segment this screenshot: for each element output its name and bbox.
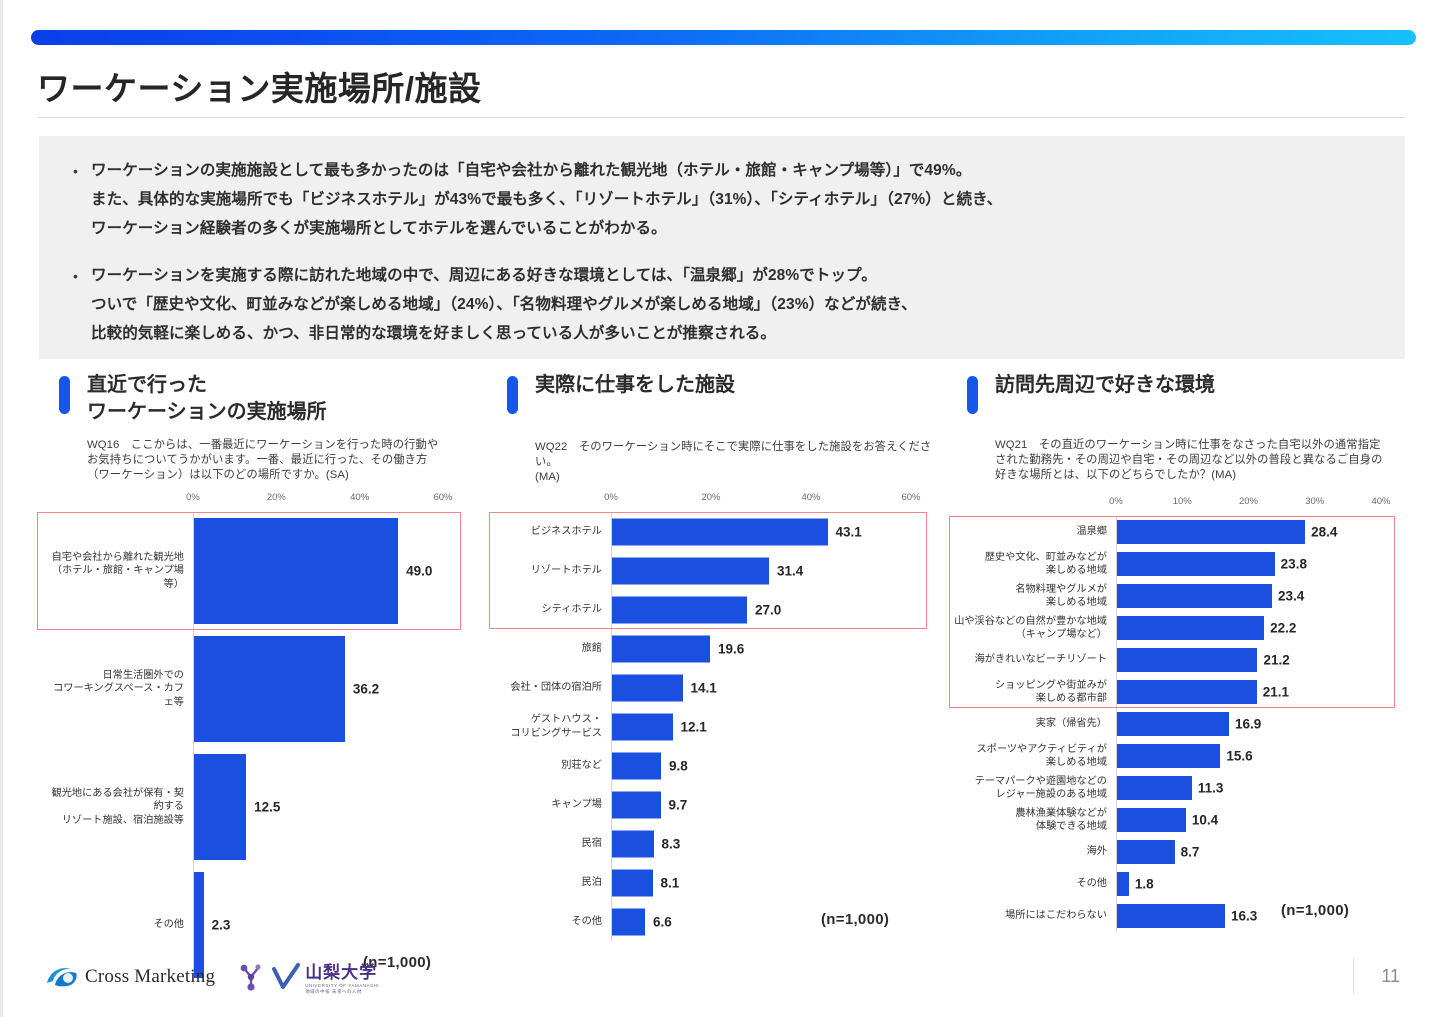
summary-line: 比較的気軽に楽しめる、かつ、非日常的な環境を好ましく思っている人が多いことが推察… — [91, 319, 1377, 348]
bar — [612, 713, 673, 740]
page-number: 11 — [1381, 966, 1400, 987]
chart-rows: 自宅や会社から離れた観光地 （ホテル・旅館・キャンプ場等）49.0日常生活圏外で… — [43, 512, 483, 984]
bar-track: 15.6 — [1116, 740, 1382, 772]
bar-category-label: 山や渓谷などの自然が豊かな地域 （キャンプ場など） — [951, 615, 1116, 642]
axis-tick-label: 40% — [1371, 496, 1390, 507]
bar — [612, 752, 661, 779]
bar — [194, 754, 246, 860]
chart-row: 観光地にある会社が保有・契約する リゾート施設、宿泊施設等12.5 — [43, 748, 483, 866]
bar-track: 8.1 — [611, 863, 912, 902]
axis-tick-label: 60% — [433, 492, 452, 503]
bar-category-label: 農林漁業体験などが 体験できる地域 — [951, 807, 1116, 834]
chart-row: 民宿8.3 — [491, 824, 943, 863]
bar-value-label: 8.3 — [662, 836, 681, 851]
bar-category-label: その他 — [491, 915, 611, 929]
axis-tick-label: 30% — [1305, 496, 1324, 507]
bar-track: 19.6 — [611, 629, 912, 668]
panel-preferred-environment: 訪問先周辺で好きな環境 WQ21 その直近のワーケーション時に仕事をなさった自宅… — [951, 372, 1406, 952]
title-divider — [37, 117, 1405, 118]
bar-value-label: 19.6 — [718, 641, 744, 656]
bar-value-label: 31.4 — [777, 563, 803, 578]
panel-title: 実際に仕事をした施設 — [535, 372, 735, 399]
header-accent-bar — [31, 30, 1416, 45]
bar-track: 28.4 — [1116, 516, 1382, 548]
bar-value-label: 11.3 — [1198, 781, 1224, 796]
bar-track: 21.2 — [1116, 644, 1382, 676]
axis-tick-label: 20% — [267, 492, 286, 503]
chart-row: ビジネスホテル43.1 — [491, 512, 943, 551]
bar-value-label: 9.8 — [669, 758, 688, 773]
bar-value-label: 8.7 — [1181, 845, 1200, 860]
bar-category-label: 観光地にある会社が保有・契約する リゾート施設、宿泊施設等 — [43, 787, 193, 828]
bar-category-label: 日常生活圏外での コワーキングスペース・カフェ等 — [43, 669, 193, 710]
bar-track: 1.8 — [1116, 868, 1382, 900]
panel-facility-worked-at: 実際に仕事をした施設 WQ22 そのワーケーション時にそこで実際に仕事をした施設… — [491, 372, 943, 952]
bar-category-label: キャンプ場 — [491, 798, 611, 812]
bar-track: 12.5 — [193, 748, 444, 866]
bar-category-label: スポーツやアクティビティが 楽しめる地域 — [951, 743, 1116, 770]
bar-track: 9.8 — [611, 746, 912, 785]
bar-category-label: ショッピングや街並みが 楽しめる都市部 — [951, 679, 1116, 706]
bar-track: 16.9 — [1116, 708, 1382, 740]
summary-bullet-lines: ワーケーションを実施する際に訪れた地域の中で、周辺にある好きな環境としては、「温… — [91, 261, 1377, 348]
bar-value-label: 23.8 — [1281, 557, 1307, 572]
chart-row: 別荘など9.8 — [491, 746, 943, 785]
chart-x-axis: 0%20%40%60% — [43, 492, 483, 512]
bar-category-label: ビジネスホテル — [491, 525, 611, 539]
summary-line: また、具体的な実施場所でも「ビジネスホテル」が43%で最も多く、「リゾートホテル… — [91, 185, 1377, 214]
footer-logos: Cross Marketing 山梨大学 UNIVERSITY OF YAMAN… — [45, 958, 379, 995]
bar — [1117, 840, 1175, 864]
bar-category-label: 海がきれいなビーチリゾート — [951, 653, 1116, 667]
bar — [612, 557, 769, 584]
bar-track: 31.4 — [611, 551, 912, 590]
chart-row: 会社・団体の宿泊所14.1 — [491, 668, 943, 707]
bar-chart-environment: 0%10%20%30%40%温泉郷28.4歴史や文化、町並みなどが 楽しめる地域… — [951, 496, 1406, 932]
bar — [1117, 552, 1275, 576]
bar-value-label: 23.4 — [1278, 589, 1304, 604]
panel-header: 訪問先周辺で好きな環境 — [951, 372, 1406, 418]
bar — [612, 869, 653, 896]
axis-tick-label: 0% — [186, 492, 200, 503]
bar-value-label: 15.6 — [1226, 749, 1252, 764]
panel-title: 直近で行った ワーケーションの実施場所 — [87, 372, 327, 426]
bar-track: 11.3 — [1116, 772, 1382, 804]
bar-category-label: 民泊 — [491, 876, 611, 890]
bar-track: 8.7 — [1116, 836, 1382, 868]
panel-question-text: WQ21 その直近のワーケーション時に仕事をなさった自宅以外の通常指定 された勤… — [995, 438, 1383, 483]
bar-value-label: 9.7 — [669, 797, 688, 812]
bar-value-label: 36.2 — [353, 682, 379, 697]
chart-row: 民泊8.1 — [491, 863, 943, 902]
chart-row: 山や渓谷などの自然が豊かな地域 （キャンプ場など）22.2 — [951, 612, 1406, 644]
chart-row: 名物料理やグルメが 楽しめる地域23.4 — [951, 580, 1406, 612]
slide-root: ワーケーション実施場所/施設 •ワーケーションの実施施設として最も多かったのは「… — [0, 0, 1440, 1017]
bar-category-label: 自宅や会社から離れた観光地 （ホテル・旅館・キャンプ場等） — [43, 551, 193, 592]
bar — [1117, 744, 1220, 768]
bar-category-label: テーマパークや遊園地などの レジャー施設のある地域 — [951, 775, 1116, 802]
bar-track: 22.2 — [1116, 612, 1382, 644]
yamanashi-molecule-icon — [237, 962, 267, 992]
bar-value-label: 27.0 — [755, 602, 781, 617]
yamanashi-logo-text: 山梨大学 — [305, 958, 379, 983]
bar-chart-recent-location: 0%20%40%60%自宅や会社から離れた観光地 （ホテル・旅館・キャンプ場等）… — [43, 492, 483, 984]
bar-value-label: 10.4 — [1192, 813, 1218, 828]
bar — [1117, 520, 1305, 544]
panel-accent-bar — [967, 376, 978, 414]
chart-row: スポーツやアクティビティが 楽しめる地域15.6 — [951, 740, 1406, 772]
bar — [1117, 616, 1264, 640]
bar-track: 49.0 — [193, 512, 444, 630]
bullet-marker-icon: • — [67, 261, 91, 348]
axis-tick-label: 20% — [1239, 496, 1258, 507]
chart-row: 海がきれいなビーチリゾート21.2 — [951, 644, 1406, 676]
bar-chart-facility: 0%20%40%60%ビジネスホテル43.1リゾートホテル31.4シティホテル2… — [491, 492, 943, 941]
bar-value-label: 21.1 — [1263, 685, 1289, 700]
bar-track: 27.0 — [611, 590, 912, 629]
bar-category-label: シティホテル — [491, 603, 611, 617]
chart-row: その他1.8 — [951, 868, 1406, 900]
bar-track: 21.1 — [1116, 676, 1382, 708]
bar — [1117, 712, 1229, 736]
axis-tick-label: 40% — [801, 492, 820, 503]
bar-category-label: 会社・団体の宿泊所 — [491, 681, 611, 695]
bar-value-label: 12.1 — [681, 719, 707, 734]
summary-bullet: •ワーケーションを実施する際に訪れた地域の中で、周辺にある好きな環境としては、「… — [67, 261, 1377, 348]
chart-row: テーマパークや遊園地などの レジャー施設のある地域11.3 — [951, 772, 1406, 804]
bar — [612, 635, 710, 662]
chart-row: ショッピングや街並みが 楽しめる都市部21.1 — [951, 676, 1406, 708]
bar-track: 23.8 — [1116, 548, 1382, 580]
page-number-divider — [1353, 958, 1354, 994]
bar-value-label: 12.5 — [254, 800, 280, 815]
bar-track: 14.1 — [611, 668, 912, 707]
bar-track: 8.3 — [611, 824, 912, 863]
yamanashi-check-icon — [271, 963, 301, 991]
chart-row: 旅館19.6 — [491, 629, 943, 668]
panel-question-text: WQ16 ここからは、一番最近にワーケーションを行った時の行動や お気持ちについ… — [87, 438, 438, 483]
chart-row: シティホテル27.0 — [491, 590, 943, 629]
chart-row: 農林漁業体験などが 体験できる地域10.4 — [951, 804, 1406, 836]
chart-x-axis: 0%20%40%60% — [491, 492, 943, 512]
yamanashi-university-logo: 山梨大学 UNIVERSITY OF YAMANASHI 地域の中核 未来への人… — [237, 958, 379, 995]
bar-value-label: 2.3 — [212, 918, 231, 933]
bar — [612, 674, 683, 701]
cross-marketing-logo-text: Cross Marketing — [85, 966, 215, 988]
chart-row: 実家（帰省先）16.9 — [951, 708, 1406, 740]
bar-track: 10.4 — [1116, 804, 1382, 836]
chart-row: 自宅や会社から離れた観光地 （ホテル・旅館・キャンプ場等）49.0 — [43, 512, 483, 630]
bar-value-label: 28.4 — [1311, 525, 1337, 540]
bar — [1117, 776, 1192, 800]
bar-category-label: 温泉郷 — [951, 525, 1116, 539]
cross-marketing-logo: Cross Marketing — [45, 964, 215, 990]
panel-header: 実際に仕事をした施設 — [491, 372, 943, 418]
summary-bullet: •ワーケーションの実施施設として最も多かったのは「自宅や会社から離れた観光地（ホ… — [67, 156, 1377, 243]
panel-accent-bar — [59, 376, 70, 414]
panel-title: 訪問先周辺で好きな環境 — [995, 372, 1215, 399]
bar — [1117, 680, 1257, 704]
bar-category-label: その他 — [951, 877, 1116, 891]
cross-marketing-wave-icon — [45, 964, 79, 990]
panel-header: 直近で行った ワーケーションの実施場所 — [43, 372, 483, 418]
summary-bullet-lines: ワーケーションの実施施設として最も多かったのは「自宅や会社から離れた観光地（ホテ… — [91, 156, 1377, 243]
chart-x-axis: 0%10%20%30%40% — [951, 496, 1406, 516]
sample-size-label: (n=1,000) — [821, 911, 889, 928]
bar-value-label: 14.1 — [691, 680, 717, 695]
chart-rows: 温泉郷28.4歴史や文化、町並みなどが 楽しめる地域23.8名物料理やグルメが … — [951, 516, 1406, 932]
bar-value-label: 22.2 — [1270, 621, 1296, 636]
panel-question-text: WQ22 そのワーケーション時にそこで実際に仕事をした施設をお答えください。 (… — [535, 440, 943, 485]
bar — [1117, 904, 1225, 928]
chart-row: 温泉郷28.4 — [951, 516, 1406, 548]
bar-track: 43.1 — [611, 512, 912, 551]
bar-category-label: 海外 — [951, 845, 1116, 859]
bar-category-label: ゲストハウス・ コリビングサービス — [491, 713, 611, 740]
bar-category-label: 旅館 — [491, 642, 611, 656]
bar-value-label: 6.6 — [653, 914, 672, 929]
summary-line: ワーケーションを実施する際に訪れた地域の中で、周辺にある好きな環境としては、「温… — [91, 261, 1377, 290]
bar-category-label: 名物料理やグルメが 楽しめる地域 — [951, 583, 1116, 610]
bar-value-label: 16.3 — [1231, 909, 1257, 924]
axis-tick-label: 20% — [701, 492, 720, 503]
bullet-marker-icon: • — [67, 156, 91, 243]
bar-value-label: 16.9 — [1235, 717, 1261, 732]
axis-tick-label: 0% — [1109, 496, 1123, 507]
bar-value-label: 8.1 — [661, 875, 680, 890]
bar-value-label: 49.0 — [406, 564, 432, 579]
bar-track: 23.4 — [1116, 580, 1382, 612]
axis-tick-label: 10% — [1173, 496, 1192, 507]
bar-category-label: 実家（帰省先） — [951, 717, 1116, 731]
summary-line: ワーケーション経験者の多くが実施場所としてホテルを選んでいることがわかる。 — [91, 214, 1377, 243]
bar — [612, 518, 828, 545]
bar — [612, 791, 661, 818]
bar — [194, 518, 398, 624]
bar-track: 9.7 — [611, 785, 912, 824]
summary-line: ワーケーションの実施施設として最も多かったのは「自宅や会社から離れた観光地（ホテ… — [91, 156, 1377, 185]
bar-value-label: 1.8 — [1135, 877, 1154, 892]
axis-tick-label: 40% — [350, 492, 369, 503]
bar-value-label: 43.1 — [836, 524, 862, 539]
bar-category-label: 別荘など — [491, 759, 611, 773]
bar — [1117, 584, 1272, 608]
sample-size-label: (n=1,000) — [1281, 902, 1349, 919]
bar — [612, 596, 747, 623]
bar-track: 12.1 — [611, 707, 912, 746]
panel-accent-bar — [507, 376, 518, 414]
bar — [1117, 648, 1257, 672]
chart-row: 海外8.7 — [951, 836, 1406, 868]
chart-row: ゲストハウス・ コリビングサービス12.1 — [491, 707, 943, 746]
bar — [194, 636, 345, 742]
bar-category-label: 場所にはこだわらない — [951, 909, 1116, 923]
bar-category-label: リゾートホテル — [491, 564, 611, 578]
page-title: ワーケーション実施場所/施設 — [37, 62, 482, 110]
yamanashi-logo-sub-jp: 地域の中核 未来への人材 — [305, 989, 379, 995]
panel-recent-workation-location: 直近で行った ワーケーションの実施場所 WQ16 ここからは、一番最近にワーケー… — [43, 372, 483, 952]
bar-category-label: 歴史や文化、町並みなどが 楽しめる地域 — [951, 551, 1116, 578]
bar — [612, 908, 645, 935]
axis-tick-label: 0% — [604, 492, 618, 503]
bar — [612, 830, 654, 857]
bar-value-label: 21.2 — [1263, 653, 1289, 668]
chart-rows: ビジネスホテル43.1リゾートホテル31.4シティホテル27.0旅館19.6会社… — [491, 512, 943, 941]
bar — [1117, 872, 1129, 896]
summary-line: ついで「歴史や文化、町並みなどが楽しめる地域」（24%）、「名物料理やグルメが楽… — [91, 290, 1377, 319]
chart-row: 日常生活圏外での コワーキングスペース・カフェ等36.2 — [43, 630, 483, 748]
chart-row: 歴史や文化、町並みなどが 楽しめる地域23.8 — [951, 548, 1406, 580]
axis-tick-label: 60% — [901, 492, 920, 503]
bar-category-label: その他 — [43, 918, 193, 932]
summary-panel: •ワーケーションの実施施設として最も多かったのは「自宅や会社から離れた観光地（ホ… — [39, 136, 1405, 359]
bar-category-label: 民宿 — [491, 837, 611, 851]
chart-row: キャンプ場9.7 — [491, 785, 943, 824]
chart-row: リゾートホテル31.4 — [491, 551, 943, 590]
bar — [1117, 808, 1186, 832]
bar-track: 36.2 — [193, 630, 444, 748]
